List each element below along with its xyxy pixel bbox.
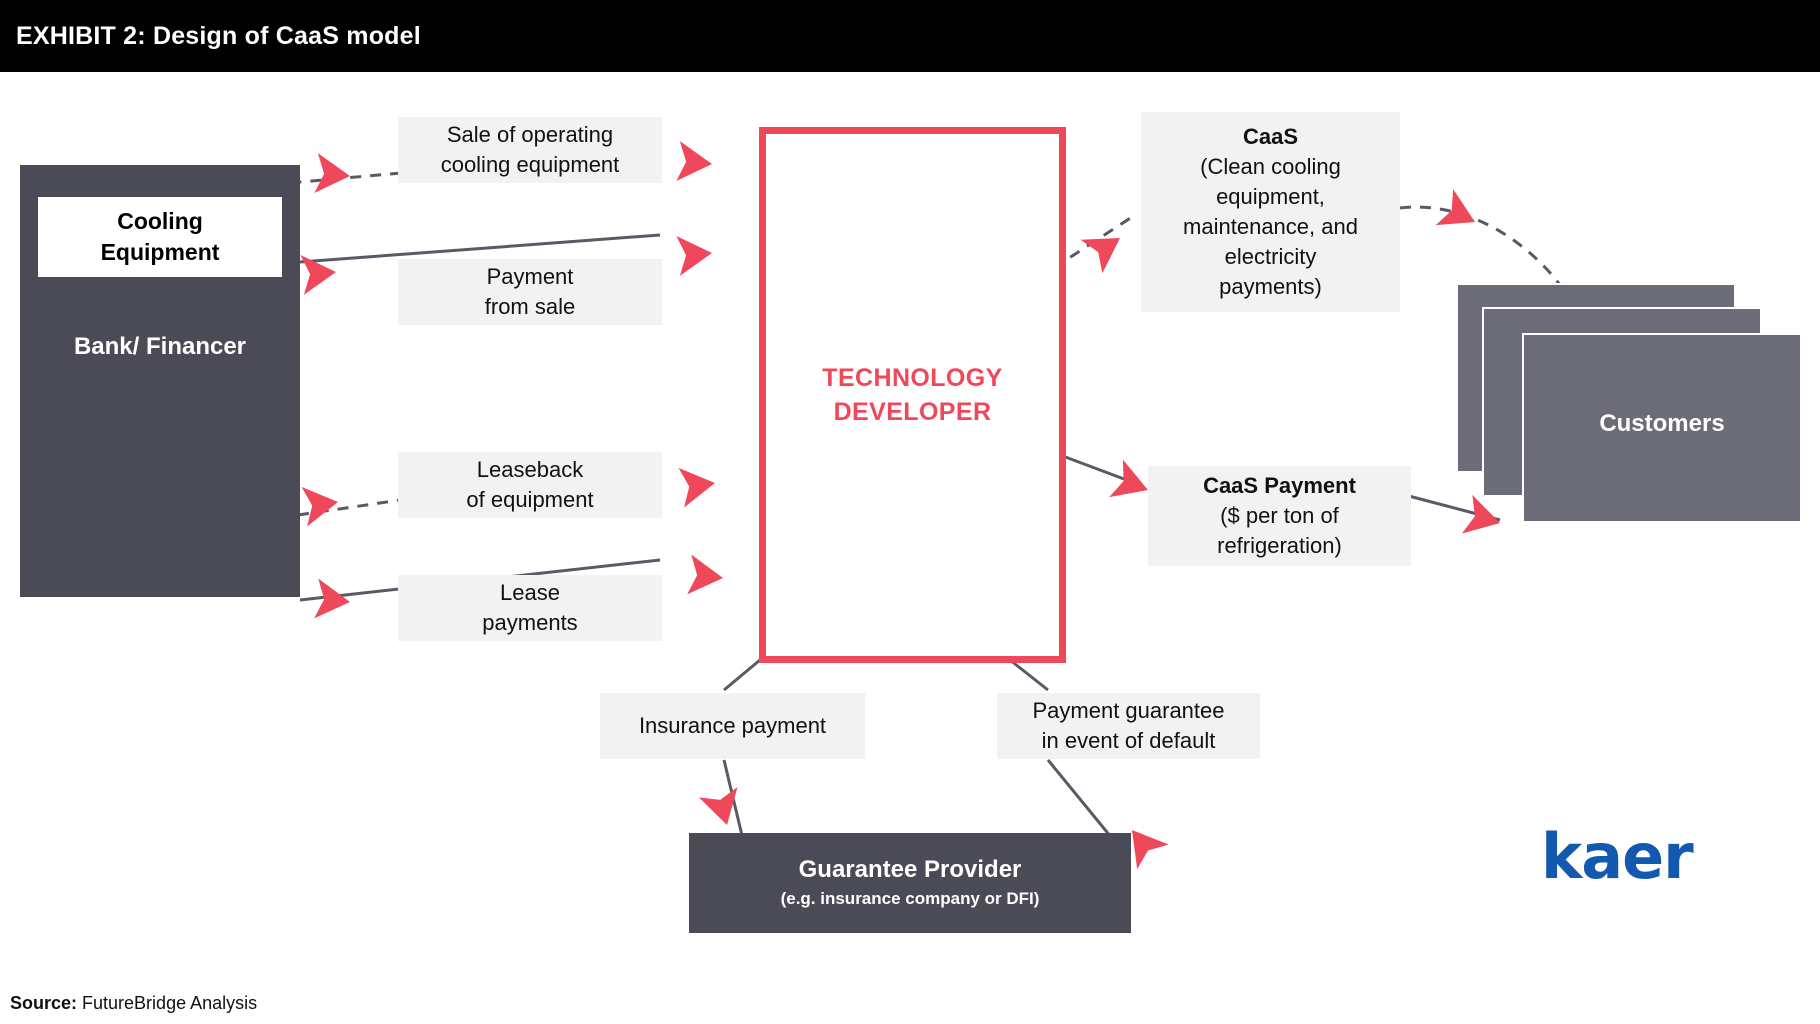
arrowhead-leaseback-right [302,482,341,526]
label-sale-of-equipment[interactable]: Sale of operating cooling equipment [398,117,662,183]
tech-developer-line1: TECHNOLOGY [822,364,1002,392]
label-insurance-payment[interactable]: Insurance payment [600,693,865,759]
arrowhead-payment-right-2 [676,233,713,276]
link-caas-to-customers [1400,207,1560,285]
lease-line1: Lease [500,580,560,605]
sale-line1: Sale of operating [447,122,613,147]
caas-line1: (Clean cooling [1200,154,1341,179]
caas-line2: equipment, [1216,184,1325,209]
arrowhead-sale-left [314,153,351,196]
arrowhead-caas-right [1081,221,1131,273]
page-title: EXHIBIT 2: Design of CaaS model [16,22,421,51]
bank-financer-box[interactable]: Cooling Equipment Bank/ Financer [20,165,300,597]
link-customers-to-payment [1405,495,1500,520]
label-leaseback[interactable]: Leaseback of equipment [398,452,662,518]
caas-payment-title: CaaS Payment [1203,473,1356,498]
label-caas[interactable]: CaaS (Clean cooling equipment, maintenan… [1141,112,1400,312]
guarantee-provider-box[interactable]: Guarantee Provider (e.g. insurance compa… [689,833,1131,933]
leaseback-line1: Leaseback [477,457,583,482]
caas-payment-line1: ($ per ton of [1220,503,1339,528]
source-note: Source: FutureBridge Analysis [10,993,257,1014]
arrowhead-payment-right [300,252,337,295]
guarantee-line1: Payment guarantee [1032,698,1224,723]
caas-line4: electricity [1225,244,1317,269]
source-label: Source: [10,993,77,1013]
arrowhead-lease-left-2 [687,555,725,598]
label-lease-payments[interactable]: Lease payments [398,575,662,641]
arrowhead-customers-payment-left [1462,495,1505,542]
tech-developer-line2: DEVELOPER [834,398,992,426]
cooling-equipment-line2: Equipment [101,239,220,265]
lease-line2: payments [482,610,577,635]
arrowhead-caas-customers-right [1436,189,1484,240]
link-guarantee-upper [1010,660,1048,690]
source-value: FutureBridge Analysis [77,993,257,1013]
guarantee-provider-title: Guarantee Provider [799,854,1022,886]
guarantee-provider-subtitle: (e.g. insurance company or DFI) [781,886,1040,912]
cooling-equipment-line1: Cooling [117,208,203,234]
arrowhead-lease-left [314,579,352,622]
leaseback-line2: of equipment [466,487,593,512]
customers-box[interactable]: Customers [1522,333,1802,523]
label-payment-guarantee[interactable]: Payment guarantee in event of default [997,693,1260,759]
caas-line5: payments) [1219,274,1322,299]
kaer-logo: kaer [1541,820,1693,893]
payment-line2: from sale [485,294,575,319]
insurance-line1: Insurance payment [639,713,826,738]
caas-payment-line2: refrigeration) [1217,533,1342,558]
label-payment-from-sale[interactable]: Payment from sale [398,259,662,325]
caas-title: CaaS [1243,124,1298,149]
technology-developer-box[interactable]: TECHNOLOGY DEVELOPER [759,127,1066,663]
customers-label: Customers [1524,410,1800,438]
label-caas-payment[interactable]: CaaS Payment ($ per ton of refrigeration… [1148,466,1411,566]
arrowhead-sale-left-2 [676,141,713,184]
caas-line3: maintenance, and [1183,214,1358,239]
cooling-equipment-card[interactable]: Cooling Equipment [38,197,282,277]
link-insurance-upper [724,660,760,690]
bank-financer-label: Bank/ Financer [20,333,300,361]
diagram-canvas: EXHIBIT 2: Design of CaaS model [0,0,1820,1024]
arrowhead-leaseback-right-2 [679,463,718,507]
arrowhead-insurance-down [699,787,746,830]
sale-line2: cooling equipment [441,152,620,177]
link-payment-from-sale [300,235,660,262]
payment-line1: Payment [487,264,574,289]
guarantee-line2: in event of default [1042,728,1216,753]
title-bar: EXHIBIT 2: Design of CaaS model [0,0,1820,72]
